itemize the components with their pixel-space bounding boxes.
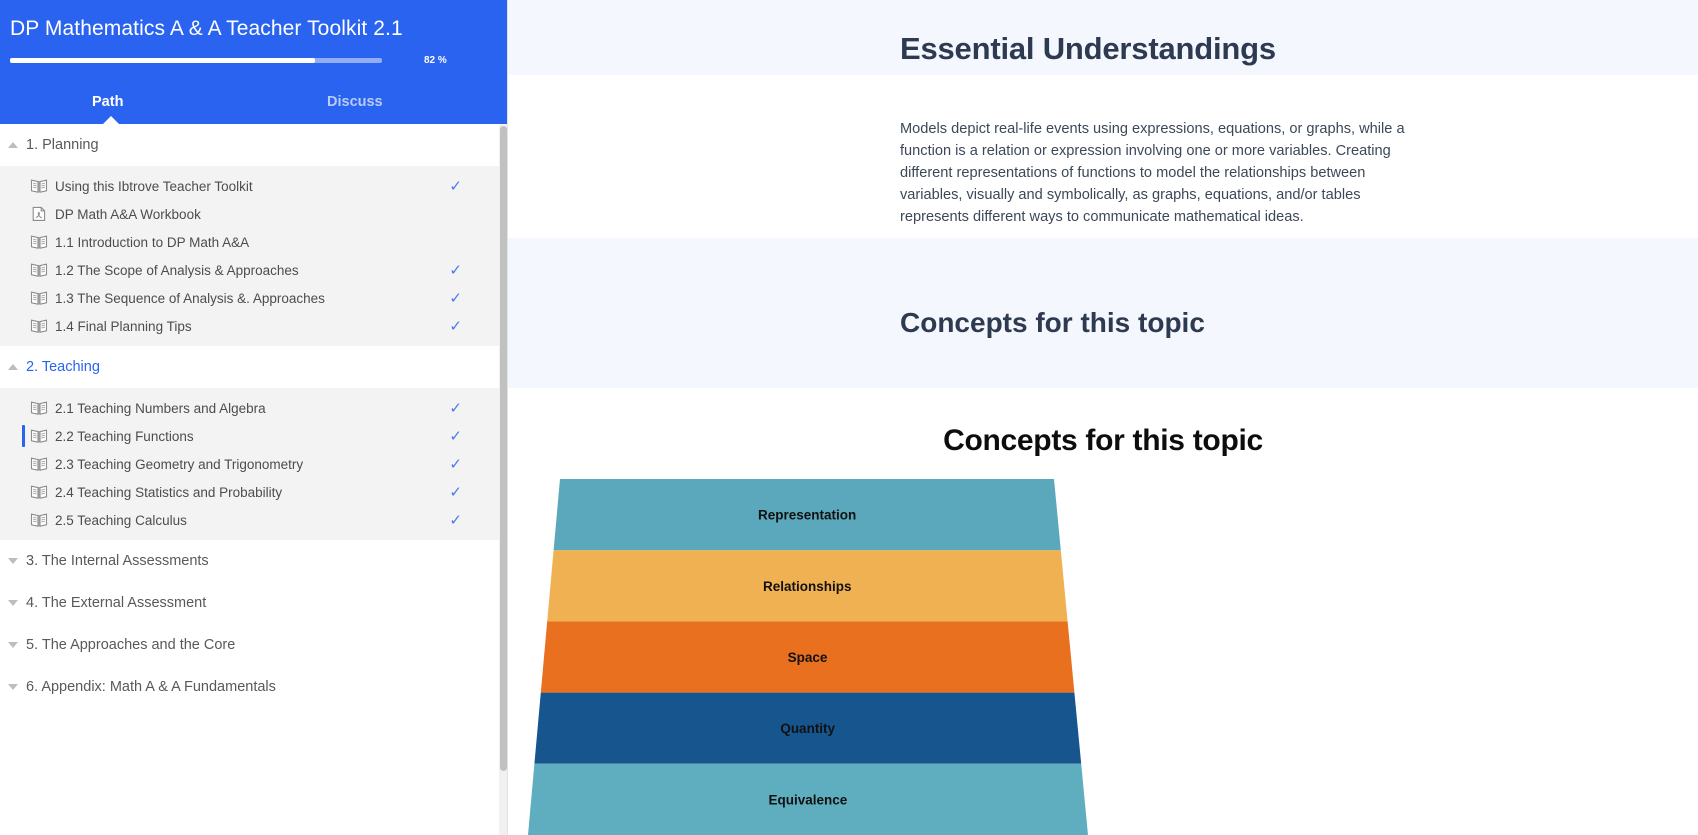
sidebar-item-label: 1.2 The Scope of Analysis & Approaches — [55, 263, 299, 278]
sidebar-section-header[interactable]: 5. The Approaches and the Core — [0, 624, 508, 666]
concept-band-label: Representation — [758, 508, 856, 523]
concepts-diagram-section: Concepts for this topic RepresentationRe… — [508, 388, 1698, 835]
course-progress-bar — [10, 58, 382, 63]
completed-check-icon: ✓ — [449, 319, 462, 334]
completed-check-icon: ✓ — [449, 429, 462, 444]
chevron-down-icon — [8, 684, 18, 690]
sidebar-scroll-region[interactable]: 1. PlanningUsing this Ibtrove Teacher To… — [0, 124, 508, 835]
sidebar-section-items: Using this Ibtrove Teacher Toolkit✓DP Ma… — [0, 166, 508, 346]
tab-path[interactable]: Path — [92, 94, 123, 110]
sidebar-item-label: Using this Ibtrove Teacher Toolkit — [55, 179, 253, 194]
sidebar-section-items: 2.1 Teaching Numbers and Algebra✓2.2 Tea… — [0, 388, 508, 540]
book-icon — [30, 484, 48, 500]
chevron-up-icon — [8, 364, 18, 370]
page-title: DP Mathematics A & A Teacher Toolkit 2.1 — [10, 17, 403, 41]
sidebar-item-label: DP Math A&A Workbook — [55, 207, 201, 222]
sidebar-item-label: 1.3 The Sequence of Analysis &. Approach… — [55, 291, 325, 306]
sidebar-item[interactable]: 1.1 Introduction to DP Math A&A — [0, 228, 508, 256]
progress-percent-label: 82 % — [424, 55, 447, 66]
completed-check-icon: ✓ — [449, 291, 462, 306]
sidebar-item[interactable]: Using this Ibtrove Teacher Toolkit✓ — [0, 172, 508, 200]
sidebar-item-label: 2.5 Teaching Calculus — [55, 513, 187, 528]
concepts-heading: Concepts for this topic — [900, 307, 1205, 339]
concept-band-label: Space — [788, 650, 828, 665]
current-item-indicator — [22, 481, 25, 503]
sidebar-header: DP Mathematics A & A Teacher Toolkit 2.1… — [0, 0, 508, 124]
sidebar-section-label: 1. Planning — [26, 137, 99, 153]
sidebar-item[interactable]: 2.3 Teaching Geometry and Trigonometry✓ — [0, 450, 508, 478]
progress-fill — [10, 58, 315, 63]
book-icon — [30, 456, 48, 472]
sidebar-section-label: 6. Appendix: Math A & A Fundamentals — [26, 679, 276, 695]
sidebar-item[interactable]: 1.4 Final Planning Tips✓ — [0, 312, 508, 340]
essential-understandings-banner: Essential Understandings — [508, 0, 1698, 75]
sidebar-item-label: 2.3 Teaching Geometry and Trigonometry — [55, 457, 303, 472]
course-sidebar: DP Mathematics A & A Teacher Toolkit 2.1… — [0, 0, 508, 835]
sidebar-section-label: 3. The Internal Assessments — [26, 553, 209, 569]
sidebar-section-header[interactable]: 1. Planning — [0, 124, 508, 166]
sidebar-section-label: 5. The Approaches and the Core — [26, 637, 235, 653]
sidebar-item-label: 2.4 Teaching Statistics and Probability — [55, 485, 282, 500]
current-item-indicator — [22, 231, 25, 253]
essential-understandings-body: Models depict real-life events using exp… — [508, 75, 1698, 238]
sidebar-section-label: 2. Teaching — [26, 359, 100, 375]
completed-check-icon: ✓ — [449, 263, 462, 278]
sidebar-item[interactable]: 2.5 Teaching Calculus✓ — [0, 506, 508, 534]
book-icon — [30, 262, 48, 278]
current-item-indicator — [22, 287, 25, 309]
sidebar-section-label: 4. The External Assessment — [26, 595, 206, 611]
chevron-down-icon — [8, 558, 18, 564]
current-item-indicator — [22, 175, 25, 197]
sidebar-item-label: 1.4 Final Planning Tips — [55, 319, 192, 334]
sidebar-section-header[interactable]: 4. The External Assessment — [0, 582, 508, 624]
completed-check-icon: ✓ — [449, 401, 462, 416]
sidebar-item-label: 2.2 Teaching Functions — [55, 429, 194, 444]
book-icon — [30, 178, 48, 194]
current-item-indicator — [22, 315, 25, 337]
trapezoid-svg: RepresentationRelationshipsSpaceQuantity… — [508, 388, 1698, 835]
completed-check-icon: ✓ — [449, 513, 462, 528]
book-icon — [30, 512, 48, 528]
chevron-down-icon — [8, 600, 18, 606]
completed-check-icon: ✓ — [449, 485, 462, 500]
sidebar-item[interactable]: DP Math A&A Workbook — [0, 200, 508, 228]
essential-understandings-text: Models depict real-life events using exp… — [900, 118, 1420, 228]
sidebar-item[interactable]: 1.2 The Scope of Analysis & Approaches✓ — [0, 256, 508, 284]
pdf-icon — [30, 206, 48, 222]
sidebar-tabs: Path Discuss — [0, 84, 508, 124]
sidebar-item-label: 1.1 Introduction to DP Math A&A — [55, 235, 249, 250]
book-icon — [30, 400, 48, 416]
sidebar-item[interactable]: 1.3 The Sequence of Analysis &. Approach… — [0, 284, 508, 312]
concept-band-label: Quantity — [780, 721, 835, 736]
current-item-indicator — [22, 425, 25, 447]
completed-check-icon: ✓ — [449, 179, 462, 194]
content-area: Essential Understandings Models depict r… — [508, 0, 1698, 835]
chevron-down-icon — [8, 642, 18, 648]
concept-band-label: Relationships — [763, 579, 852, 594]
book-icon — [30, 428, 48, 444]
sidebar-item[interactable]: 2.2 Teaching Functions✓ — [0, 422, 508, 450]
sidebar-section-header[interactable]: 6. Appendix: Math A & A Fundamentals — [0, 666, 508, 708]
concepts-banner: Concepts for this topic — [508, 238, 1698, 388]
app-root: DP Mathematics A & A Teacher Toolkit 2.1… — [0, 0, 1698, 835]
concepts-trapezoid-chart: RepresentationRelationshipsSpaceQuantity… — [508, 388, 1698, 835]
sidebar-item[interactable]: 2.4 Teaching Statistics and Probability✓ — [0, 478, 508, 506]
concept-band-label: Equivalence — [769, 792, 848, 807]
completed-check-icon: ✓ — [449, 457, 462, 472]
tab-discuss[interactable]: Discuss — [327, 94, 383, 110]
sidebar-scrollbar-thumb[interactable] — [500, 126, 507, 771]
book-icon — [30, 318, 48, 334]
essential-understandings-heading: Essential Understandings — [900, 31, 1276, 67]
book-icon — [30, 234, 48, 250]
current-item-indicator — [22, 203, 25, 225]
chevron-up-icon — [8, 142, 18, 148]
current-item-indicator — [22, 259, 25, 281]
current-item-indicator — [22, 397, 25, 419]
book-icon — [30, 290, 48, 306]
sidebar-section-header[interactable]: 2. Teaching — [0, 346, 508, 388]
sidebar-item-label: 2.1 Teaching Numbers and Algebra — [55, 401, 266, 416]
sidebar-section-header[interactable]: 3. The Internal Assessments — [0, 540, 508, 582]
current-item-indicator — [22, 453, 25, 475]
sidebar-item[interactable]: 2.1 Teaching Numbers and Algebra✓ — [0, 394, 508, 422]
current-item-indicator — [22, 509, 25, 531]
